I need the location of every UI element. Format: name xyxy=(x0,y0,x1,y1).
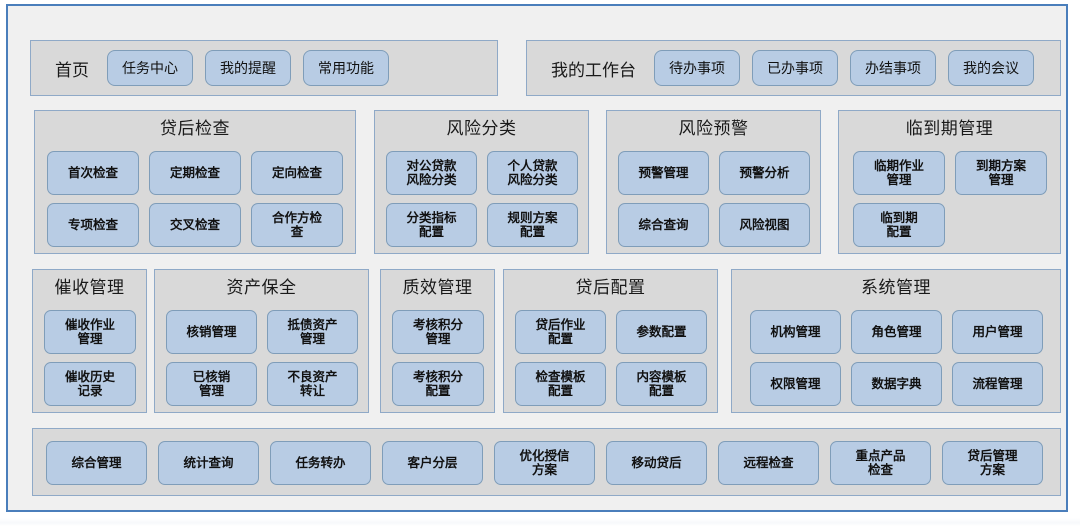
button-remote-inspection[interactable]: 远程检查 xyxy=(718,441,819,485)
panel-post-loan-config: 贷后配置 贷后作业 配置 参数配置 检查模板 配置 内容模板 配置 xyxy=(503,269,718,413)
bottom-gradient-strip xyxy=(0,518,1080,526)
panel-title-post-loan-inspection: 贷后检查 xyxy=(35,111,355,137)
button-maturity-config[interactable]: 临到期 配置 xyxy=(853,203,945,247)
button-first-inspection[interactable]: 首次检查 xyxy=(47,151,139,195)
panel-risk-classification: 风险分类 对公贷款 风险分类 个人贷款 风险分类 分类指标 配置 规则方案 配置 xyxy=(374,110,589,254)
panel-maturity-management: 临到期管理 临期作业 管理 到期方案 管理 临到期 配置 xyxy=(838,110,1061,254)
panel-buttons-quality-efficiency-management: 考核积分 管理 考核积分 配置 xyxy=(392,310,484,406)
panel-title-quality-efficiency-management: 质效管理 xyxy=(381,270,494,296)
button-user-management[interactable]: 用户管理 xyxy=(952,310,1043,354)
panel-buttons-risk-classification: 对公贷款 风险分类 个人贷款 风险分类 分类指标 配置 规则方案 配置 xyxy=(386,151,579,247)
panel-buttons-collection-management: 催收作业 管理 催收历史 记录 xyxy=(44,310,136,406)
header-button-todo[interactable]: 待办事项 xyxy=(654,50,740,86)
button-comprehensive-query[interactable]: 综合查询 xyxy=(618,203,709,247)
app-canvas: 首页 任务中心 我的提醒 常用功能 我的工作台 待办事项 已办事项 办结事项 我… xyxy=(6,4,1068,512)
button-corporate-loan-risk-classification[interactable]: 对公贷款 风险分类 xyxy=(386,151,477,195)
header-button-task-center[interactable]: 任务中心 xyxy=(107,50,193,86)
panel-buttons-system-management: 机构管理 角色管理 用户管理 权限管理 数据字典 流程管理 xyxy=(750,310,1044,406)
button-mobile-post-loan[interactable]: 移动贷后 xyxy=(606,441,707,485)
header-button-my-reminders[interactable]: 我的提醒 xyxy=(205,50,291,86)
panel-system-management: 系统管理 机构管理 角色管理 用户管理 权限管理 数据字典 流程管理 xyxy=(731,269,1061,413)
button-process-management[interactable]: 流程管理 xyxy=(952,362,1043,406)
button-rule-scheme-config[interactable]: 规则方案 配置 xyxy=(487,203,578,247)
button-data-dictionary[interactable]: 数据字典 xyxy=(851,362,942,406)
button-post-loan-management-scheme[interactable]: 贷后管理 方案 xyxy=(942,441,1043,485)
button-collection-history-record[interactable]: 催收历史 记录 xyxy=(44,362,136,406)
button-customer-stratification[interactable]: 客户分层 xyxy=(382,441,483,485)
panel-risk-warning: 风险预警 预警管理 预警分析 综合查询 风险视图 xyxy=(606,110,821,254)
button-post-loan-operation-config[interactable]: 贷后作业 配置 xyxy=(515,310,606,354)
button-written-off-management[interactable]: 已核销 管理 xyxy=(166,362,257,406)
panel-buttons-post-loan-inspection: 首次检查 定期检查 定向检查 专项检查 交叉检查 合作方检 查 xyxy=(47,151,345,247)
header-workbench-panel: 我的工作台 待办事项 已办事项 办结事项 我的会议 xyxy=(526,40,1061,96)
button-periodic-inspection[interactable]: 定期检查 xyxy=(149,151,241,195)
button-special-inspection[interactable]: 专项检查 xyxy=(47,203,139,247)
panel-buttons-post-loan-config: 贷后作业 配置 参数配置 检查模板 配置 内容模板 配置 xyxy=(515,310,708,406)
header-workbench-label: 我的工作台 xyxy=(551,56,636,81)
button-statistical-query[interactable]: 统计查询 xyxy=(158,441,259,485)
header-button-common-functions[interactable]: 常用功能 xyxy=(303,50,389,86)
header-button-completed[interactable]: 办结事项 xyxy=(850,50,936,86)
button-personal-loan-risk-classification[interactable]: 个人贷款 风险分类 xyxy=(487,151,578,195)
button-npl-asset-transfer[interactable]: 不良资产 转让 xyxy=(267,362,358,406)
button-maturity-scheme-management[interactable]: 到期方案 管理 xyxy=(955,151,1047,195)
panel-quality-efficiency-management: 质效管理 考核积分 管理 考核积分 配置 xyxy=(380,269,495,413)
button-permission-management[interactable]: 权限管理 xyxy=(750,362,841,406)
button-key-product-inspection[interactable]: 重点产品 检查 xyxy=(830,441,931,485)
panel-title-risk-warning: 风险预警 xyxy=(607,111,820,137)
button-debt-asset-management[interactable]: 抵债资产 管理 xyxy=(267,310,358,354)
button-optimized-credit-scheme[interactable]: 优化授信 方案 xyxy=(494,441,595,485)
panel-title-asset-preservation: 资产保全 xyxy=(155,270,368,296)
header-home-label: 首页 xyxy=(55,56,89,81)
panel-buttons-risk-warning: 预警管理 预警分析 综合查询 风险视图 xyxy=(618,151,811,247)
panel-buttons-maturity-management: 临期作业 管理 到期方案 管理 临到期 配置 xyxy=(853,151,1047,247)
header-home-panel: 首页 任务中心 我的提醒 常用功能 xyxy=(30,40,498,96)
panel-quick-links: 综合管理 统计查询 任务转办 客户分层 优化授信 方案 移动贷后 远程检查 重点… xyxy=(32,428,1061,496)
panel-title-post-loan-config: 贷后配置 xyxy=(504,270,717,296)
button-targeted-inspection[interactable]: 定向检查 xyxy=(251,151,343,195)
panel-title-collection-management: 催收管理 xyxy=(33,270,146,296)
button-parameter-config[interactable]: 参数配置 xyxy=(616,310,707,354)
button-cross-inspection[interactable]: 交叉检查 xyxy=(149,203,241,247)
button-role-management[interactable]: 角色管理 xyxy=(851,310,942,354)
button-classification-indicator-config[interactable]: 分类指标 配置 xyxy=(386,203,477,247)
button-risk-view[interactable]: 风险视图 xyxy=(719,203,810,247)
button-warning-management[interactable]: 预警管理 xyxy=(618,151,709,195)
panel-collection-management: 催收管理 催收作业 管理 催收历史 记录 xyxy=(32,269,147,413)
button-assessment-score-management[interactable]: 考核积分 管理 xyxy=(392,310,484,354)
panel-asset-preservation: 资产保全 核销管理 抵债资产 管理 已核销 管理 不良资产 转让 xyxy=(154,269,369,413)
button-content-template-config[interactable]: 内容模板 配置 xyxy=(616,362,707,406)
button-warning-analysis[interactable]: 预警分析 xyxy=(719,151,810,195)
button-inspection-template-config[interactable]: 检查模板 配置 xyxy=(515,362,606,406)
panel-title-system-management: 系统管理 xyxy=(732,270,1060,296)
button-maturity-operation-management[interactable]: 临期作业 管理 xyxy=(853,151,945,195)
button-comprehensive-management[interactable]: 综合管理 xyxy=(46,441,147,485)
button-writeoff-management[interactable]: 核销管理 xyxy=(166,310,257,354)
panel-title-risk-classification: 风险分类 xyxy=(375,111,588,137)
panel-buttons-quick-links: 综合管理 统计查询 任务转办 客户分层 优化授信 方案 移动贷后 远程检查 重点… xyxy=(46,441,1048,485)
panel-title-maturity-management: 临到期管理 xyxy=(839,111,1060,137)
button-task-transfer[interactable]: 任务转办 xyxy=(270,441,371,485)
button-collection-operation-management[interactable]: 催收作业 管理 xyxy=(44,310,136,354)
button-partner-inspection[interactable]: 合作方检 查 xyxy=(251,203,343,247)
header-button-done[interactable]: 已办事项 xyxy=(752,50,838,86)
panel-buttons-asset-preservation: 核销管理 抵债资产 管理 已核销 管理 不良资产 转让 xyxy=(166,310,359,406)
header-button-my-meetings[interactable]: 我的会议 xyxy=(948,50,1034,86)
button-organization-management[interactable]: 机构管理 xyxy=(750,310,841,354)
panel-post-loan-inspection: 贷后检查 首次检查 定期检查 定向检查 专项检查 交叉检查 合作方检 查 xyxy=(34,110,356,254)
button-assessment-score-config[interactable]: 考核积分 配置 xyxy=(392,362,484,406)
